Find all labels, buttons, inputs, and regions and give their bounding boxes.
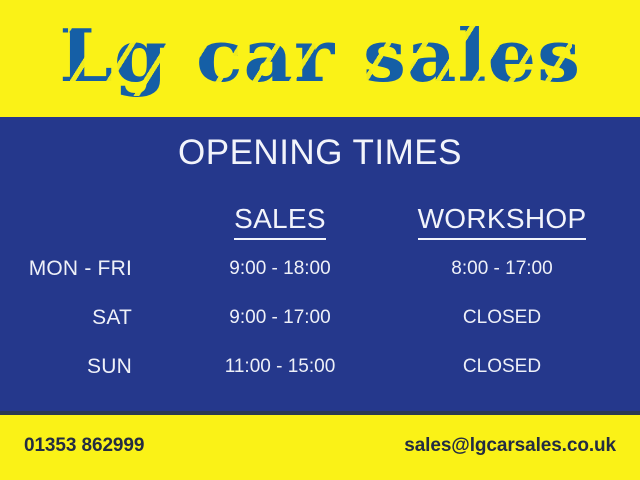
row-sales-hours: 11:00 - 15:00	[170, 353, 390, 381]
column-header-row: SALES WORKSHOP	[0, 203, 640, 245]
opening-times-poster: Lg car sales OPENING TIMES SALES WORKSHO…	[0, 0, 640, 480]
row-sales-hours: 9:00 - 18:00	[170, 255, 390, 283]
row-day-label: SUN	[0, 353, 132, 381]
table-row: SUN 11:00 - 15:00 CLOSED	[0, 353, 640, 402]
column-header-workshop: WORKSHOP	[392, 203, 612, 240]
row-workshop-hours: CLOSED	[392, 353, 612, 381]
business-logo: Lg car sales	[74, 20, 566, 92]
table-row: MON - FRI 9:00 - 18:00 8:00 - 17:00	[0, 255, 640, 304]
opening-times-table: MON - FRI 9:00 - 18:00 8:00 - 17:00 SAT …	[0, 255, 640, 402]
column-header-sales: SALES	[170, 203, 390, 240]
row-day-label: MON - FRI	[0, 255, 132, 283]
row-day-label: SAT	[0, 304, 132, 332]
table-row: SAT 9:00 - 17:00 CLOSED	[0, 304, 640, 353]
footer-band: 01353 862999 sales@lgcarsales.co.uk	[0, 415, 640, 480]
business-logo-text: Lg car sales	[59, 20, 581, 92]
column-header-sales-label: SALES	[234, 203, 326, 240]
row-workshop-hours: CLOSED	[392, 304, 612, 332]
header-band: Lg car sales	[0, 0, 640, 117]
row-workshop-hours: 8:00 - 17:00	[392, 255, 612, 283]
contact-phone-number[interactable]: 01353 862999	[24, 435, 144, 457]
row-sales-hours: 9:00 - 17:00	[170, 304, 390, 332]
column-header-workshop-label: WORKSHOP	[418, 203, 587, 240]
opening-times-panel: OPENING TIMES SALES WORKSHOP MON - FRI 9…	[0, 117, 640, 412]
contact-email-address[interactable]: sales@lgcarsales.co.uk	[404, 435, 616, 457]
page-title: OPENING TIMES	[0, 133, 640, 173]
